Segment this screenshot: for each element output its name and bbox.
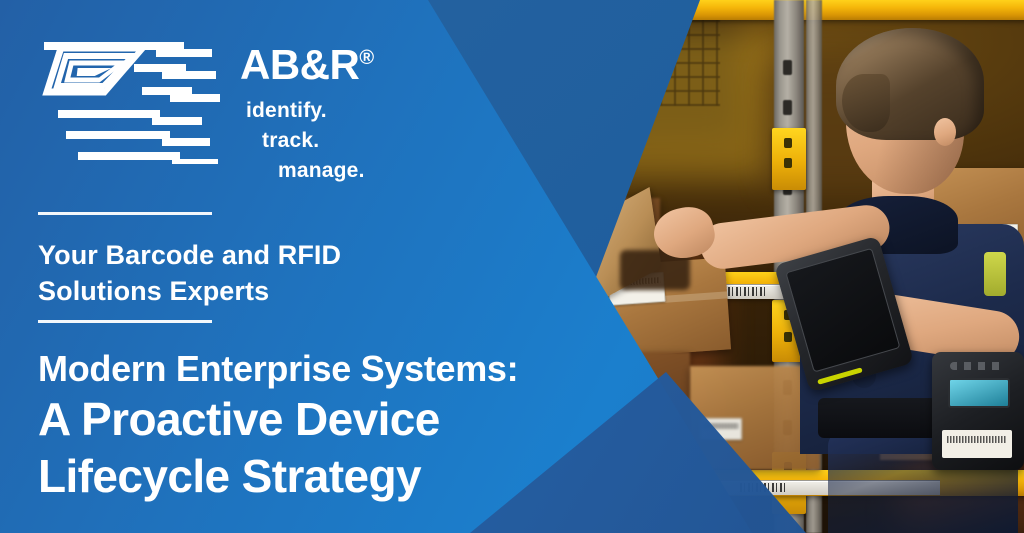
brand-text-block: AB&R® identify. track. manage. — [240, 34, 374, 185]
brand-lockup: AB&R® identify. track. manage. — [34, 34, 374, 185]
marketing-banner: AB&R® identify. track. manage. Your Barc… — [0, 0, 1024, 533]
tagline-track: track. — [240, 126, 374, 156]
brand-name: AB&R® — [240, 44, 374, 86]
divider-top — [38, 212, 212, 215]
brand-tagline: identify. track. manage. — [240, 96, 374, 185]
banner-content: AB&R® identify. track. manage. Your Barc… — [0, 0, 1024, 533]
tagline-manage: manage. — [240, 156, 374, 186]
subheadline-line-1: Your Barcode and RFID — [38, 238, 458, 274]
registered-trademark-icon: ® — [359, 47, 373, 69]
headline-line-2: A Proactive Device — [38, 392, 638, 446]
abr-barcode-logo-icon — [34, 34, 224, 164]
divider-bottom — [38, 320, 212, 323]
headline-line-3: Lifecycle Strategy — [38, 449, 638, 503]
headline-line-1: Modern Enterprise Systems: — [38, 348, 638, 390]
subheadline-line-2: Solutions Experts — [38, 274, 458, 310]
brand-name-text: AB&R — [240, 41, 359, 88]
headline: Modern Enterprise Systems: A Proactive D… — [38, 348, 638, 503]
subheadline: Your Barcode and RFID Solutions Experts — [38, 238, 458, 309]
tagline-identify: identify. — [240, 96, 374, 126]
